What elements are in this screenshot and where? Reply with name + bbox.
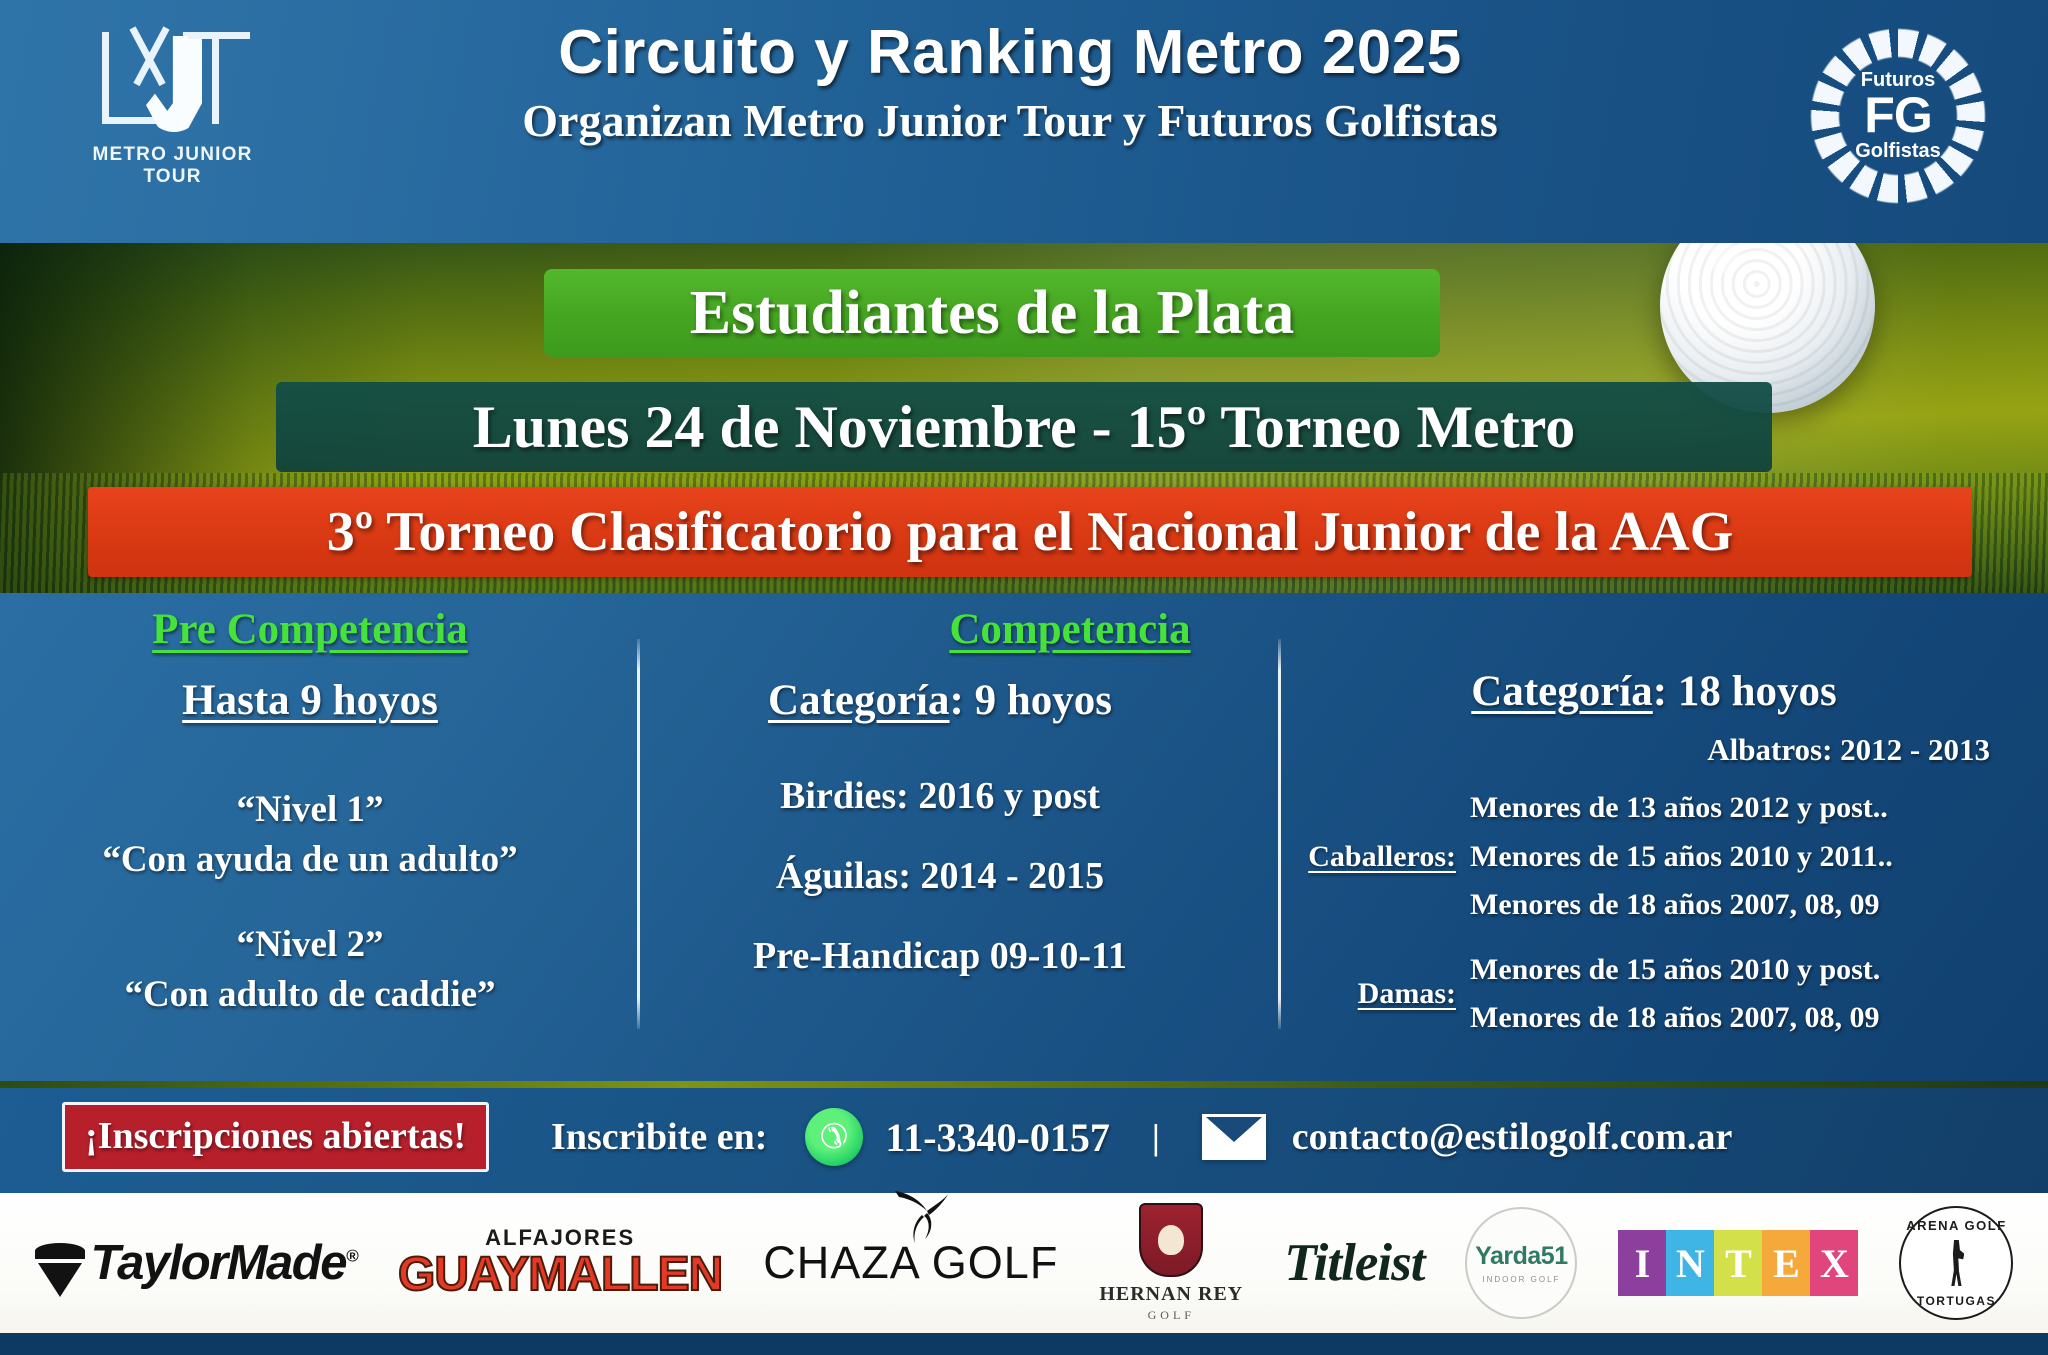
whatsapp-icon[interactable] [805,1108,863,1166]
caballeros-group: Caballeros: Menores de 13 años 2012 y po… [1270,784,2038,930]
page-subtitle: Organizan Metro Junior Tour y Futuros Go… [300,93,1720,148]
taylormade-mark-icon [35,1243,85,1299]
registered-mark: ® [346,1247,357,1266]
signup-prompt: Inscribite en: [551,1115,767,1159]
poster-header: METRO JUNIOR TOUR Circuito y Ranking Met… [0,0,2048,243]
table-row: Menores de 18 años 2007, 08, 09 [1470,881,2038,930]
separator: | [1152,1116,1160,1158]
sponsor-yarda51: Yarda51 INDOOR GOLF [1465,1203,1577,1323]
header-title-block: Circuito y Ranking Metro 2025 Organizan … [300,18,1720,149]
contact-bar: ¡Inscripciones abiertas! Inscribite en: … [0,1081,2048,1193]
sponsor-letter: N [1666,1230,1714,1296]
pre-competition-levels: “Nivel 1” “Con ayuda de un adulto” “Nive… [16,785,604,1019]
date-text: Lunes 24 de Noviembre - 15º Torneo Metro [473,393,1576,462]
sponsor-name: Titleist [1284,1233,1424,1293]
table-row: Menores de 13 años 2012 y post.. [1470,784,2038,833]
sponsor-letter: E [1762,1230,1810,1296]
sponsor-letter: T [1714,1230,1762,1296]
sponsor-name: GUAYMALLEN [398,1251,722,1299]
sponsor-name: HERNAN REY [1099,1283,1243,1306]
eighteen-holes-category: Categoría: 18 hoyos [1270,667,2038,716]
sponsor-taylormade: TaylorMade® [35,1203,358,1323]
sponsor-arena-golf: ARENA GOLF TORTUGAS [1899,1203,2013,1323]
level-1-title: “Nivel 1” [16,785,604,835]
table-row: Menores de 18 años 2007, 08, 09 [1470,994,2038,1043]
damas-label: Damas: [1270,977,1470,1011]
golfer-silhouette-icon [1948,1240,1964,1286]
nine-holes-label: Categoría [768,677,950,724]
level-2-title: “Nivel 2” [16,920,604,970]
list-item: Birdies: 2016 y post [636,777,1244,815]
email-address[interactable]: contacto@estilogolf.com.ar [1292,1115,1733,1159]
sponsor-titleist: Titleist [1284,1203,1424,1323]
pre-competition-heading: Pre Competencia [16,605,604,654]
nine-holes-value: : 9 hoyos [950,677,1112,724]
nine-holes-items: Birdies: 2016 y post Águilas: 2014 - 201… [636,777,1244,975]
metro-junior-tour-logo: METRO JUNIOR TOUR [80,26,265,174]
sponsor-subtitle: TORTUGAS [1917,1294,1996,1308]
table-row: Menores de 15 años 2010 y 2011.. [1470,833,2038,882]
sponsor-chaza-golf: CHAZA GOLF [763,1203,1058,1323]
venue-banner: Estudiantes de la Plata [544,269,1440,357]
mjt-monogram-icon [80,26,265,138]
pre-competition-subheading: Hasta 9 hoyos [16,676,604,725]
venue-name: Estudiantes de la Plata [690,278,1295,349]
list-item: Pre-Handicap 09-10-11 [636,937,1244,975]
page-title: Circuito y Ranking Metro 2025 [300,18,1720,87]
eighteen-holes-value: : 18 hoyos [1653,668,1837,715]
fg-logo-initials: FG [1864,92,1931,140]
sponsor-guaymallen: ALFAJORES GUAYMALLEN [398,1203,722,1323]
sponsor-subtitle: GOLF [1099,1308,1243,1323]
tournament-poster: METRO JUNIOR TOUR Circuito y Ranking Met… [0,0,2048,1355]
pre-competition-column: Pre Competencia Hasta 9 hoyos “Nivel 1” … [0,593,620,1081]
mjt-logo-caption: METRO JUNIOR TOUR [80,144,265,188]
letter-t-icon [188,32,250,124]
sponsor-name: ARENA GOLF [1906,1218,2006,1233]
categories-panel: Pre Competencia Hasta 9 hoyos “Nivel 1” … [0,593,2048,1081]
date-banner: Lunes 24 de Noviembre - 15º Torneo Metro [276,382,1772,472]
futuros-golfistas-logo: Futuros FG Golfistas [1810,28,1986,204]
eighteen-holes-label: Categoría [1471,668,1653,715]
crest-icon [1139,1203,1203,1277]
sponsor-hernan-rey-golf: HERNAN REY GOLF [1099,1203,1243,1323]
sponsor-letter: I [1618,1230,1666,1296]
sponsor-tagline: ALFAJORES [398,1227,722,1249]
competition-heading: Competencia [896,605,1244,654]
level-2-description: “Con adulto de caddie” [16,970,604,1020]
albatros-row: Albatros: 2012 - 2013 [1270,732,2038,768]
sponsor-intex: I N T E X [1618,1203,1858,1323]
sponsor-strip: TaylorMade® ALFAJORES GUAYMALLEN CHAZA G… [0,1193,2048,1333]
eighteen-holes-column: Categoría: 18 hoyos Albatros: 2012 - 201… [1260,593,2048,1081]
qualifier-banner: 3º Torneo Clasificatorio para el Naciona… [88,487,1972,577]
hummingbird-icon [891,1187,953,1245]
fg-logo-bottom: Golfistas [1855,140,1941,163]
sponsor-letter: X [1810,1230,1858,1296]
list-item: Águilas: 2014 - 2015 [636,857,1244,895]
qualifier-text: 3º Torneo Clasificatorio para el Naciona… [327,500,1734,564]
nine-holes-column: Competencia Categoría: 9 hoyos Birdies: … [620,593,1260,1081]
phone-number[interactable]: 11-3340-0157 [885,1114,1109,1161]
status-badge: ¡Inscripciones abiertas! [62,1102,489,1172]
table-row: Menores de 15 años 2010 y post. [1470,946,2038,995]
damas-group: Damas: Menores de 15 años 2010 y post. M… [1270,946,2038,1043]
sponsor-subtitle: INDOOR GOLF [1482,1275,1560,1284]
envelope-icon[interactable] [1202,1114,1266,1160]
level-1-description: “Con ayuda de un adulto” [16,835,604,885]
sponsor-name: Yarda51 [1475,1242,1567,1271]
fg-logo-text: Futuros FG Golfistas [1810,28,1986,204]
nine-holes-category: Categoría: 9 hoyos [636,676,1244,725]
caballeros-label: Caballeros: [1270,840,1470,874]
sponsor-name: TaylorMade [91,1236,346,1290]
